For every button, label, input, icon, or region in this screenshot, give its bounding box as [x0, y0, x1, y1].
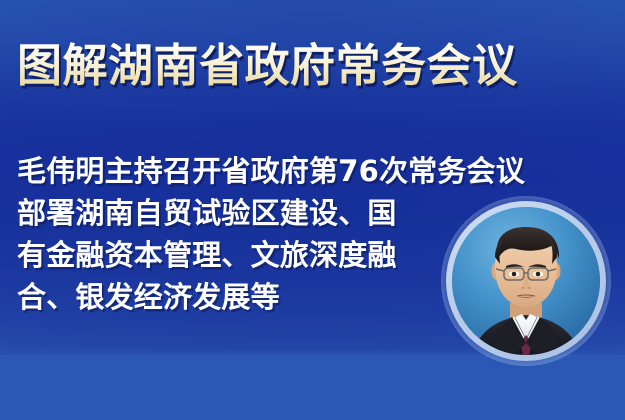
body-line-4: 合、银发经济发展等 [17, 276, 447, 318]
poster-title: 图解湖南省政府常务会议 [17, 41, 518, 91]
body-line-1: 毛伟明主持召开省政府第76次常务会议 [17, 150, 447, 192]
poster-infographic-banner: 图解湖南省政府常务会议 毛伟明主持召开省政府第76次常务会议 部署湖南自贸试验区… [0, 0, 625, 420]
portrait-avatar [446, 201, 606, 361]
body-line-3: 有金融资本管理、文旅深度融 [17, 234, 447, 276]
body-line-2: 部署湖南自贸试验区建设、国 [17, 192, 447, 234]
poster-body: 毛伟明主持召开省政府第76次常务会议 部署湖南自贸试验区建设、国 有金融资本管理… [17, 150, 447, 318]
portrait-photo [452, 207, 600, 355]
